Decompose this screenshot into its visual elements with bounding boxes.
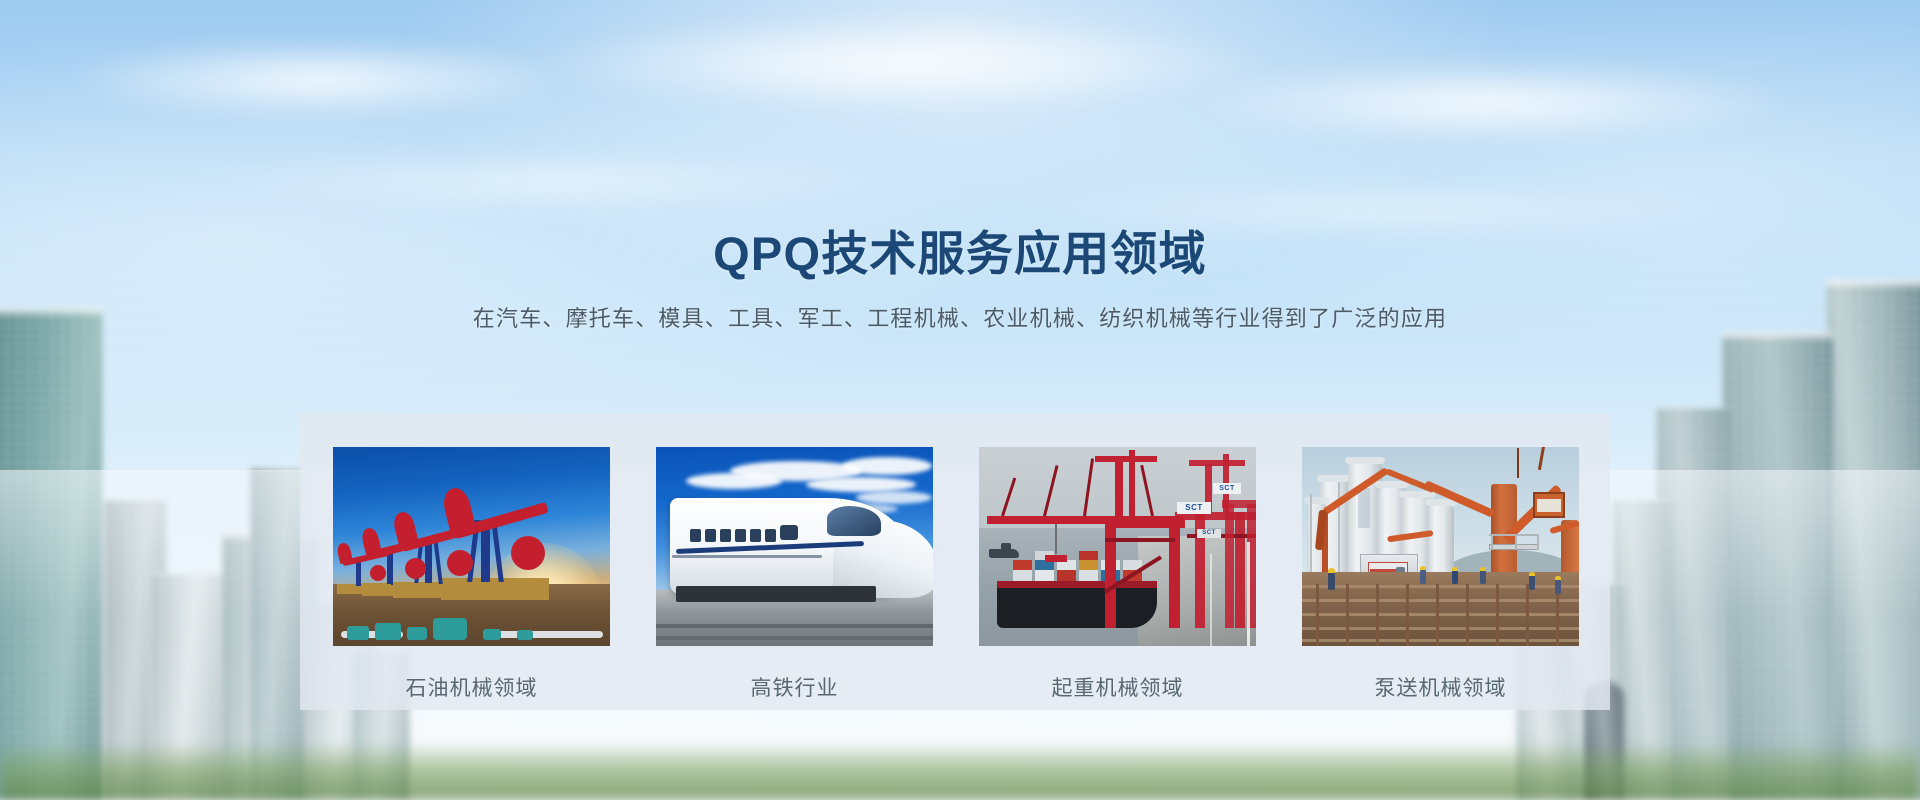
worker-helmet [1555,576,1561,580]
gantry-leg [1235,512,1245,628]
hero-banner: QPQ技术服务应用领域 在汽车、摩托车、模具、工具、军工、工程机械、农业机械、纺… [0,0,1920,800]
skyscraper [1826,280,1920,800]
card-oil-machinery[interactable]: 石油机械领域 [333,447,610,702]
gantry-leg [1169,518,1180,628]
card-label: 石油机械领域 [333,672,610,702]
cloud-wisp [200,150,900,214]
card-label: 起重机械领域 [979,672,1256,702]
card-lifting-machinery[interactable]: SCT SCT SCT 起重机械领域 [979,447,1256,702]
worker [1480,570,1486,584]
pumpjack [335,542,393,594]
cement-silo [1428,504,1454,572]
tugboat [989,549,1019,558]
high-speed-train-photo[interactable] [656,447,933,646]
container-ship [997,584,1157,628]
tree-line [0,742,1920,800]
worker-helmet [1420,566,1426,570]
oil-pumpjacks-photo[interactable] [333,447,610,646]
gantry-leg [1105,518,1116,628]
skyscraper [0,308,102,800]
page-title: QPQ技术服务应用领域 [0,228,1920,280]
card-label: 泵送机械领域 [1302,672,1579,702]
page-subtitle: 在汽车、摩托车、模具、工具、军工、工程机械、农业机械、纺织机械等行业得到了广泛的… [0,302,1920,335]
worker [1452,570,1458,584]
cloud-wisp [520,16,1280,112]
crane-brand-label-tertiary: SCT [1197,529,1221,538]
application-cards-panel: 石油机械领域 [300,414,1610,710]
worker [1555,579,1561,594]
cloud-wisp [60,40,580,120]
worker [1420,569,1426,584]
card-label: 高铁行业 [656,672,933,702]
worker-helmet [1529,572,1535,576]
crane-brand-label-secondary: SCT [1213,483,1241,494]
worker-helmet [1328,568,1335,573]
skyscraper [1722,332,1834,800]
card-pumping-machinery[interactable]: 泵送机械领域 [1302,447,1579,702]
worker-helmet [1480,567,1486,571]
worker [1529,575,1535,590]
tugboat-cabin [1001,543,1011,550]
access-platform [1489,544,1539,550]
cloud-wisp [1180,60,1800,146]
gantry-boom [987,516,1183,524]
card-high-speed-rail[interactable]: 高铁行业 [656,447,933,702]
port-gantry-crane-photo[interactable]: SCT SCT SCT [979,447,1256,646]
worker [1328,572,1335,590]
construction-deck [1302,572,1579,646]
heading-block: QPQ技术服务应用领域 在汽车、摩托车、模具、工具、军工、工程机械、农业机械、纺… [0,228,1920,335]
concrete-pump-photo[interactable] [1302,447,1579,646]
worker-helmet [1452,567,1458,571]
card-list: 石油机械领域 [333,447,1577,702]
crane-brand-label: SCT [1177,502,1211,514]
